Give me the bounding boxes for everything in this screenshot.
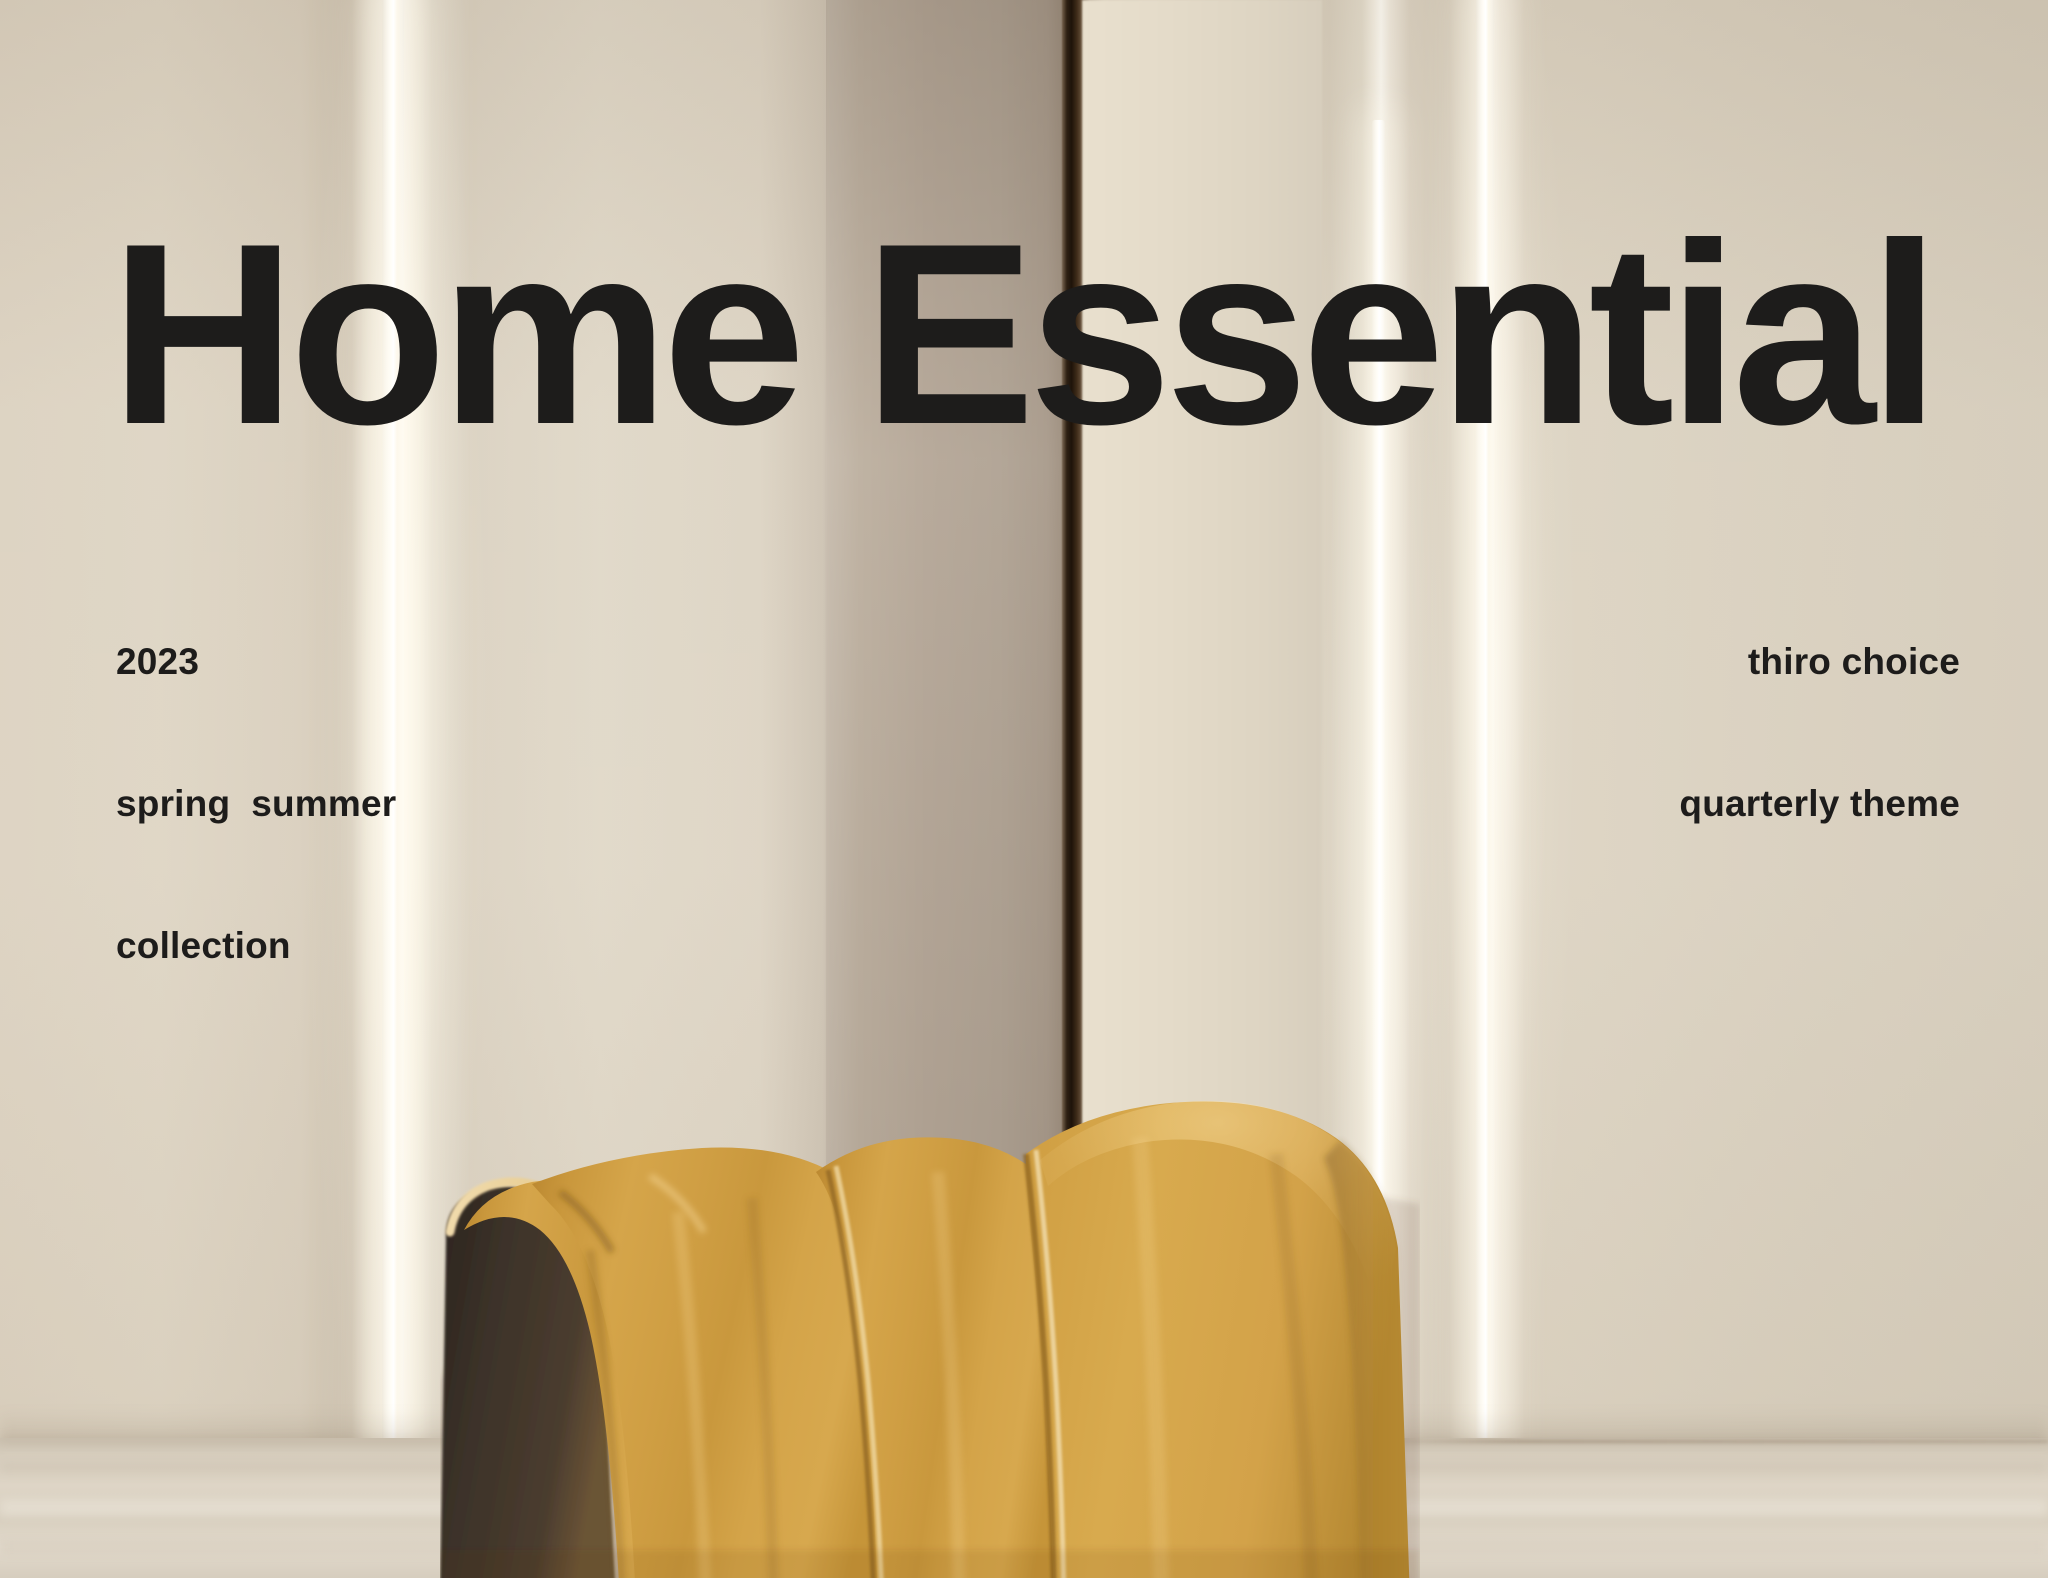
page-title: Home Essential xyxy=(110,228,1933,440)
collection-year: 2023 xyxy=(116,638,396,685)
collection-meta-left: 2023 spring summer collection xyxy=(116,543,396,1064)
theme-meta-right: thiro choice quarterly theme xyxy=(1679,543,1960,922)
poster-canvas: Home Essential 2023 spring summer collec… xyxy=(0,0,2048,1578)
collection-label: collection xyxy=(116,922,396,969)
theme-choice-line: thiro choice xyxy=(1679,638,1960,685)
typography-layer: Home Essential 2023 spring summer collec… xyxy=(0,0,2048,1578)
theme-quarterly-line: quarterly theme xyxy=(1679,780,1960,827)
collection-season: spring summer xyxy=(116,780,396,827)
